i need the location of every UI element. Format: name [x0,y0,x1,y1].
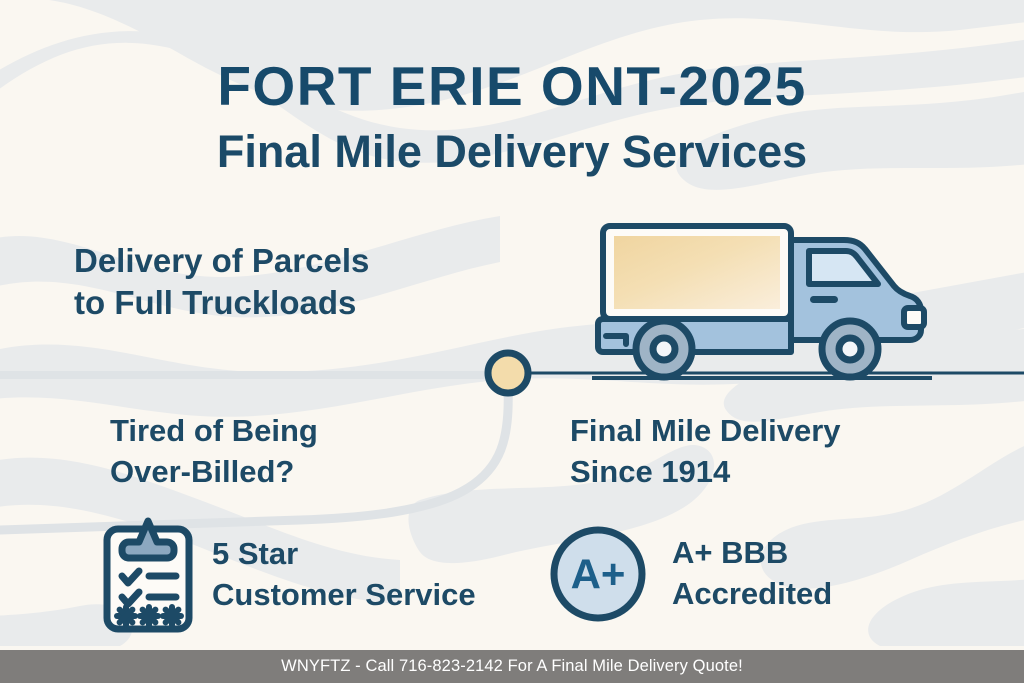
mid-left-line-2: Over-Billed? [110,451,490,492]
tagline-line-2: to Full Truckloads [74,282,494,324]
delivery-truck-icon [592,218,932,388]
feature-bbb-accredited: A+ A+ BBB Accredited [548,524,832,624]
feature-bbb-line-1: A+ BBB [672,533,832,574]
footer-bar: WNYFTZ - Call 716-823-2142 For A Final M… [0,650,1024,683]
feature-five-star-line-1: 5 Star [212,534,476,575]
footer-cta-text: WNYFTZ - Call 716-823-2142 For A Final M… [281,657,743,676]
header-block: FORT ERIE ONT-2025 Final Mile Delivery S… [0,58,1024,178]
feature-five-star-line-2: Customer Service [212,575,476,616]
poster-canvas: FORT ERIE ONT-2025 Final Mile Delivery S… [0,0,1024,683]
mid-left-block: Tired of Being Over-Billed? [110,410,490,492]
mid-left-line-1: Tired of Being [110,410,490,451]
feature-bbb-line-2: Accredited [672,574,832,615]
mid-right-line-1: Final Mile Delivery [570,410,970,451]
mid-right-line-2: Since 1914 [570,451,970,492]
mid-right-block: Final Mile Delivery Since 1914 [570,410,970,492]
feature-five-star-text: 5 Star Customer Service [212,534,476,616]
tagline-block: Delivery of Parcels to Full Truckloads [74,240,494,324]
a-plus-badge-text: A+ [571,551,626,598]
page-title: FORT ERIE ONT-2025 [0,58,1024,116]
feature-bbb-text: A+ BBB Accredited [672,533,832,615]
tagline-line-1: Delivery of Parcels [74,240,494,282]
a-plus-badge-icon: A+ [548,524,648,624]
clipboard-checklist-icon [102,516,194,634]
feature-five-star-service: 5 Star Customer Service [102,516,476,634]
page-subtitle: Final Mile Delivery Services [0,126,1024,178]
